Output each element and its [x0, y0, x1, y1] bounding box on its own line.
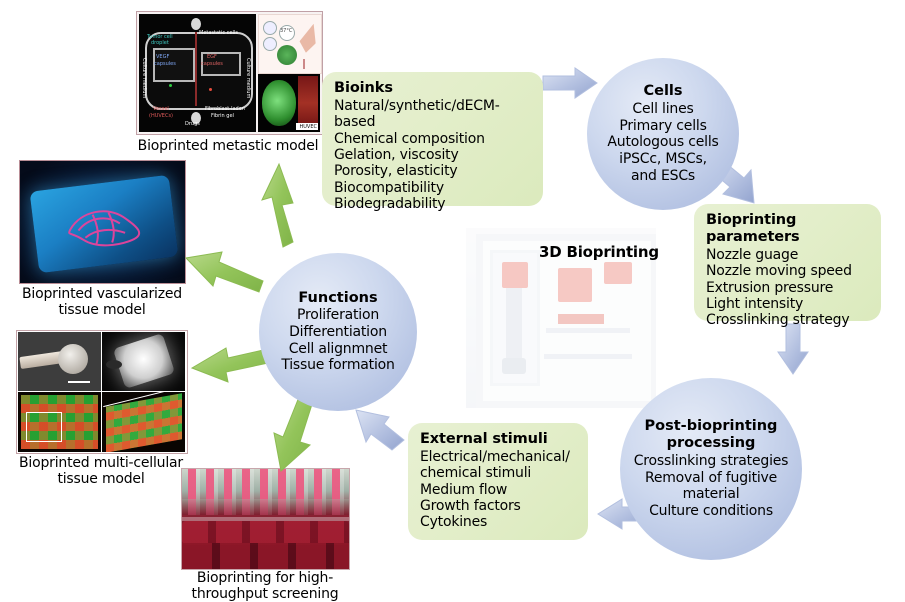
- node-bioinks-item-5: Biodegradability: [334, 196, 533, 212]
- node-bioinks-item-0: Natural/synthetic/dECM-based: [334, 98, 533, 131]
- node-bioinks-item-3: Porosity, elasticity: [334, 163, 533, 179]
- node-parameters-item-0: Nozzle guage: [706, 247, 871, 263]
- node-stimuli-item-2: Medium flow: [420, 482, 578, 498]
- node-parameters-item-2: Extrusion pressure: [706, 280, 871, 296]
- node-cells-item-1: Primary cells: [619, 118, 706, 135]
- node-stimuli-item-3: Growth factors: [420, 498, 578, 514]
- arrow-functions-to-vascularized: [186, 252, 263, 292]
- node-bioinks[interactable]: Bioinks Natural/synthetic/dECM-based Che…: [322, 72, 543, 206]
- node-functions-item-3: Tissue formation: [281, 357, 394, 374]
- node-bioinks-title: Bioinks: [334, 80, 533, 97]
- node-stimuli-item-4: Cytokines: [420, 514, 578, 530]
- node-stimuli-item-1: chemical stimuli: [420, 465, 578, 481]
- node-functions-item-1: Differentiation: [289, 324, 387, 341]
- node-cells-item-3: iPSCc, MSCs,: [619, 151, 707, 168]
- node-post-item-2: material: [683, 486, 740, 503]
- node-stimuli-title: External stimuli: [420, 431, 578, 448]
- arrow-stimuli-to-functions: [356, 410, 404, 450]
- node-post-item-1: Removal of fugitive: [645, 470, 777, 487]
- node-functions-item-0: Proliferation: [297, 307, 379, 324]
- node-functions-title: Functions: [298, 290, 377, 307]
- node-cells-title: Cells: [643, 83, 682, 100]
- node-post-title: Post-bioprinting: [645, 418, 778, 435]
- arrow-functions-to-bioinks: [262, 164, 293, 247]
- node-post-item-3: Culture conditions: [649, 503, 773, 520]
- node-parameters-item-4: Crosslinking strategy: [706, 312, 871, 328]
- arrow-bioinks-to-cells: [543, 68, 597, 98]
- node-bioinks-item-2: Gelation, viscosity: [334, 147, 533, 163]
- node-cells-item-2: Autologous cells: [607, 134, 718, 151]
- node-functions-item-2: Cell alignmnet: [289, 341, 388, 358]
- node-bioinks-item-4: Biocompatibility: [334, 180, 533, 196]
- node-cells[interactable]: Cells Cell lines Primary cells Autologou…: [587, 58, 739, 210]
- node-stimuli-item-0: Electrical/mechanical/: [420, 449, 578, 465]
- arrow-functions-to-multicellular: [192, 348, 273, 382]
- node-post-bioprinting[interactable]: Post-bioprinting processing Crosslinking…: [620, 378, 802, 560]
- node-cells-item-0: Cell lines: [632, 101, 693, 118]
- node-parameters-item-1: Nozzle moving speed: [706, 263, 871, 279]
- node-functions[interactable]: Functions Proliferation Differentiation …: [259, 253, 417, 411]
- node-post-item-0: Crosslinking strategies: [634, 453, 789, 470]
- node-cells-item-4: and ESCs: [631, 168, 695, 185]
- node-external-stimuli[interactable]: External stimuli Electrical/mechanical/ …: [408, 423, 588, 540]
- node-post-title-line2: processing: [667, 435, 756, 452]
- node-bioprinting-parameters[interactable]: Bioprinting parameters Nozzle guage Nozz…: [694, 204, 881, 321]
- arrow-parameters-to-post: [778, 324, 808, 374]
- node-bioinks-item-1: Chemical composition: [334, 131, 533, 147]
- diagram-canvas: 3D Bioprinting Tumor cell droplet Metast…: [0, 0, 905, 602]
- node-parameters-item-3: Light intensity: [706, 296, 871, 312]
- node-parameters-title: Bioprinting parameters: [706, 212, 871, 246]
